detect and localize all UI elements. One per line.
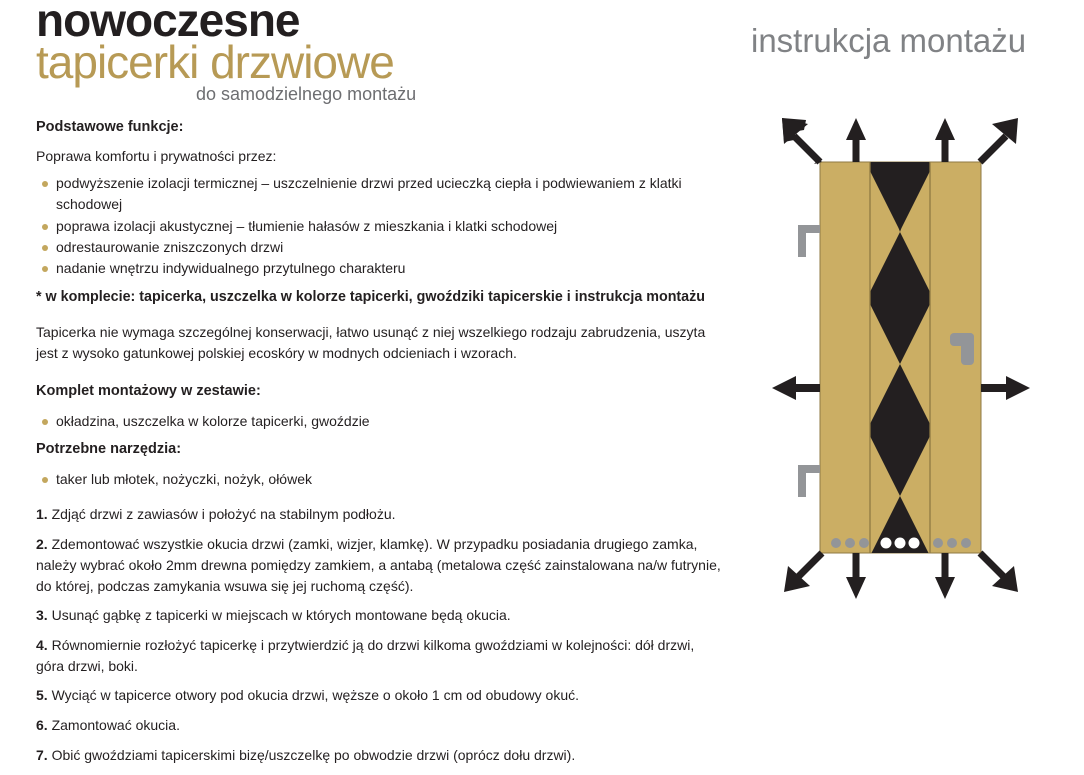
- door-diagram-svg: [760, 100, 1084, 600]
- care-text: Tapicerka nie wymaga szczególnej konserw…: [36, 322, 726, 364]
- step-text: Wyciąć w tapicerce otwory pod okucia drz…: [48, 687, 579, 703]
- set-list: okładzina, uszczelka w kolorze tapicerki…: [36, 411, 726, 432]
- step-text: Usunąć gąbkę z tapicerki w miejscach w k…: [48, 607, 511, 623]
- nails-bottom-right: [933, 538, 971, 548]
- step-number: 3.: [36, 607, 48, 623]
- step-text: Obić gwoździami tapicerskimi bizę/uszcze…: [48, 747, 576, 763]
- step-number: 7.: [36, 747, 48, 763]
- step-text: Zdjąć drzwi z zawiasów i położyć na stab…: [48, 506, 396, 522]
- list-item: nadanie wnętrzu indywidualnego przytulne…: [36, 258, 726, 279]
- list-item: taker lub młotek, nożyczki, nożyk, ołówe…: [36, 469, 726, 490]
- kit-note: * w komplecie: tapicerka, uszczelka w ko…: [36, 288, 726, 307]
- arrow-top-center-right-icon: [935, 118, 955, 162]
- list-item: odrestaurowanie zniszczonych drzwi: [36, 237, 726, 258]
- step-item: 3. Usunąć gąbkę z tapicerki w miejscach …: [36, 605, 726, 626]
- tools-heading: Potrzebne narzędzia:: [36, 440, 726, 458]
- step-number: 2.: [36, 536, 48, 552]
- arrow-bottom-left-diagonal-icon: [784, 553, 822, 592]
- title-line-2: tapicerki drzwiowe: [36, 38, 394, 86]
- poster-page: nowoczesne tapicerki drzwiowe do samodzi…: [0, 0, 1084, 636]
- step-number: 4.: [36, 637, 48, 653]
- title-subtitle: do samodzielnego montażu: [196, 84, 416, 105]
- steps-list: 1. Zdjąć drzwi z zawiasów i położyć na s…: [36, 504, 726, 765]
- set-heading: Komplet montażowy w zestawie:: [36, 382, 726, 400]
- poster-header: nowoczesne tapicerki drzwiowe do samodzi…: [0, 0, 1084, 112]
- step-item: 2. Zdemontować wszystkie okucia drzwi (z…: [36, 534, 726, 596]
- hinge-upper-left-icon: [798, 225, 820, 257]
- step-text: Równomiernie rozłożyć tapicerkę i przytw…: [36, 637, 694, 674]
- step-text: Zamontować okucia.: [48, 717, 180, 733]
- arrow-top-left-diagonal-icon: [782, 118, 822, 164]
- step-item: 5. Wyciąć w tapicerce otwory pod okucia …: [36, 685, 726, 706]
- instruction-title: instrukcja montażu: [751, 22, 1026, 60]
- list-item: podwyższenie izolacji termicznej – uszcz…: [36, 173, 726, 216]
- step-item: 6. Zamontować okucia.: [36, 715, 726, 736]
- nails-bottom-center: [881, 538, 920, 549]
- arrow-top-right-diagonal-icon: [980, 118, 1018, 162]
- step-item: 4. Równomiernie rozłożyć tapicerkę i prz…: [36, 635, 726, 676]
- arrow-bottom-right-diagonal-icon: [980, 553, 1018, 592]
- list-item: okładzina, uszczelka w kolorze tapicerki…: [36, 411, 726, 432]
- step-text: Zdemontować wszystkie okucia drzwi (zamk…: [36, 536, 721, 593]
- features-list: podwyższenie izolacji termicznej – uszcz…: [36, 173, 726, 279]
- features-heading: Podstawowe funkcje:: [36, 118, 726, 136]
- arrow-bottom-center-left-icon: [846, 553, 866, 599]
- door-upholstery-diagram: [760, 100, 1084, 600]
- arrow-right-icon: [981, 376, 1030, 400]
- list-item: poprawa izolacji akustycznej – tłumienie…: [36, 216, 726, 237]
- content-column: Podstawowe funkcje: Poprawa komfortu i p…: [36, 118, 726, 775]
- step-number: 1.: [36, 506, 48, 522]
- step-number: 5.: [36, 687, 48, 703]
- arrow-top-center-left-icon: [846, 118, 866, 162]
- tools-list: taker lub młotek, nożyczki, nożyk, ołówe…: [36, 469, 726, 490]
- hinge-lower-left-icon: [798, 465, 820, 497]
- step-item: 7. Obić gwoździami tapicerskimi bizę/usz…: [36, 745, 726, 766]
- arrow-left-icon: [772, 376, 820, 400]
- step-number: 6.: [36, 717, 48, 733]
- features-intro: Poprawa komfortu i prywatności przez:: [36, 147, 726, 167]
- arrow-bottom-center-right-icon: [935, 553, 955, 599]
- nails-bottom-left: [831, 538, 869, 548]
- step-item: 1. Zdjąć drzwi z zawiasów i położyć na s…: [36, 504, 726, 525]
